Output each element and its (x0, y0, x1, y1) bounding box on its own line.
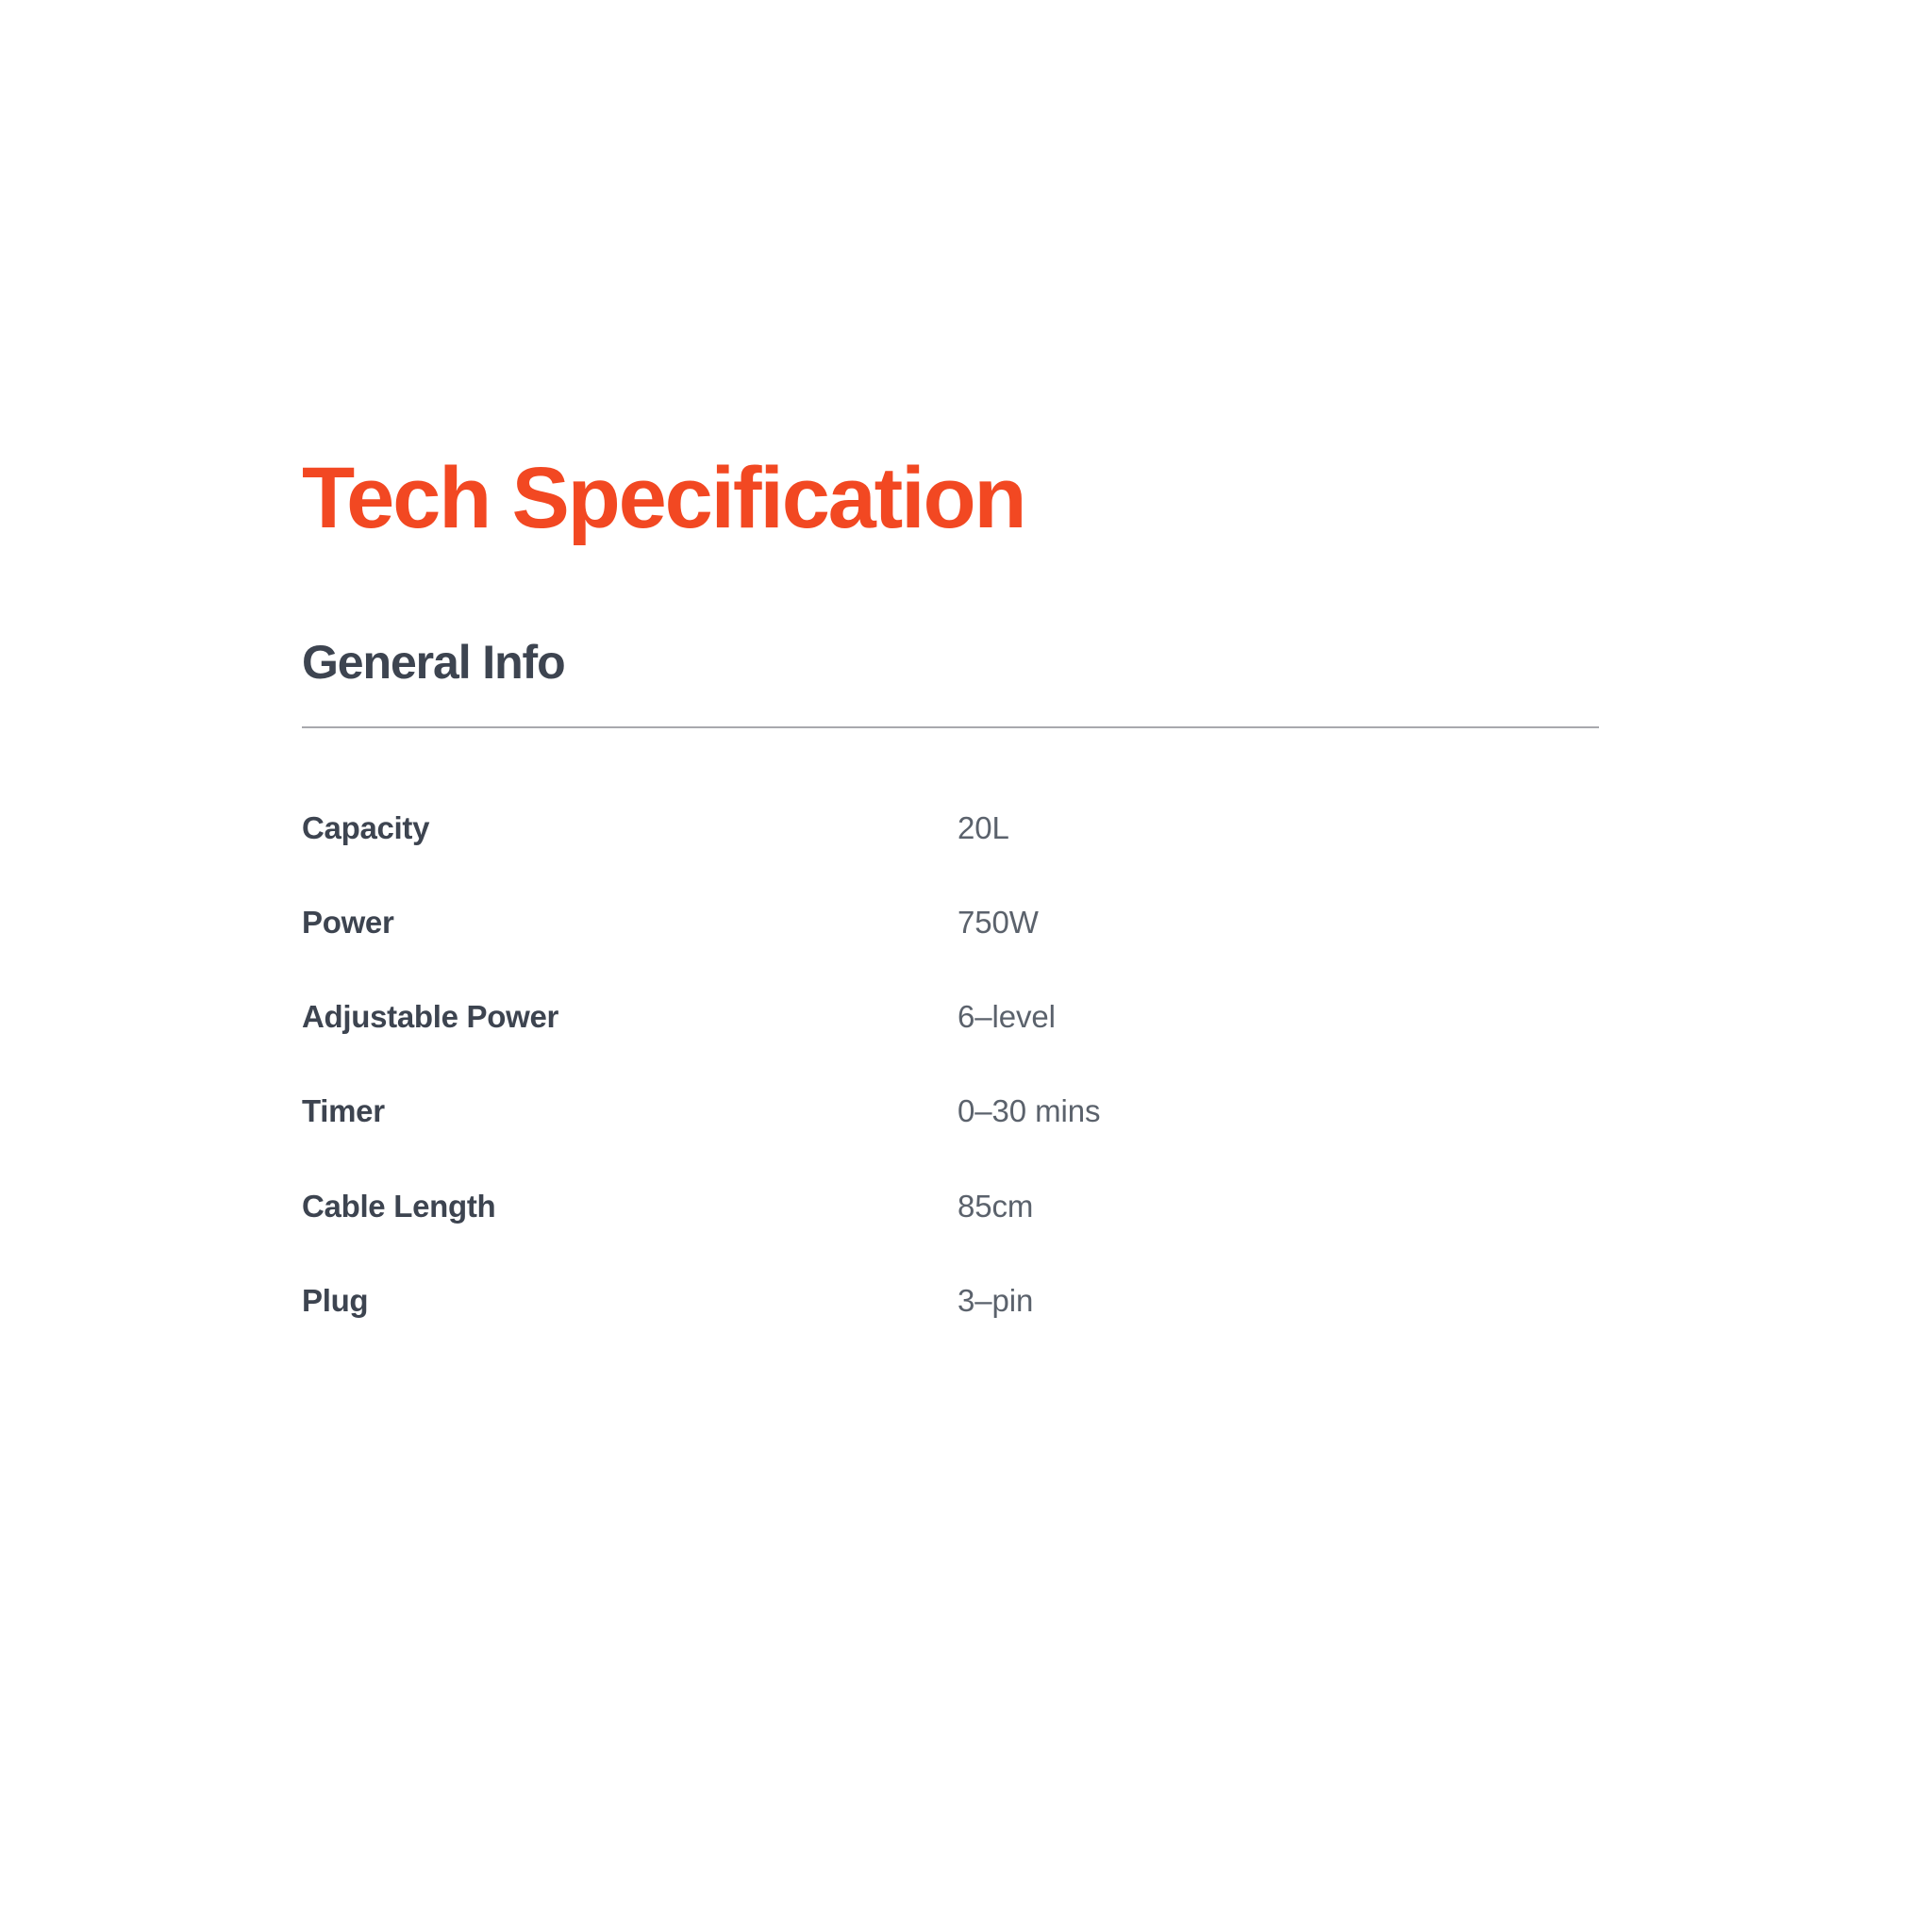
table-row: Cable Length 85cm (302, 1187, 1604, 1281)
spec-label: Capacity (302, 808, 958, 903)
table-row: Adjustable Power 6–level (302, 997, 1604, 1091)
spec-label: Power (302, 903, 958, 997)
section-heading-general-info: General Info (302, 637, 1604, 689)
table-row: Plug 3–pin (302, 1281, 1604, 1320)
spec-table-body: Capacity 20L Power 750W Adjustable Power… (302, 808, 1604, 1321)
spec-label: Plug (302, 1281, 958, 1320)
table-row: Capacity 20L (302, 808, 1604, 903)
spec-value: 0–30 mins (958, 1091, 1604, 1186)
spec-value: 20L (958, 808, 1604, 903)
spec-content: Tech Specification General Info Capacity… (302, 453, 1604, 1320)
spec-page: Tech Specification General Info Capacity… (0, 0, 1932, 1932)
section-divider (302, 726, 1599, 728)
table-row: Timer 0–30 mins (302, 1091, 1604, 1186)
spec-table: Capacity 20L Power 750W Adjustable Power… (302, 808, 1604, 1321)
spec-label: Adjustable Power (302, 997, 958, 1091)
spec-label: Cable Length (302, 1187, 958, 1281)
page-title: Tech Specification (302, 453, 1604, 544)
spec-value: 3–pin (958, 1281, 1604, 1320)
spec-value: 85cm (958, 1187, 1604, 1281)
spec-label: Timer (302, 1091, 958, 1186)
table-row: Power 750W (302, 903, 1604, 997)
spec-value: 6–level (958, 997, 1604, 1091)
spec-value: 750W (958, 903, 1604, 997)
